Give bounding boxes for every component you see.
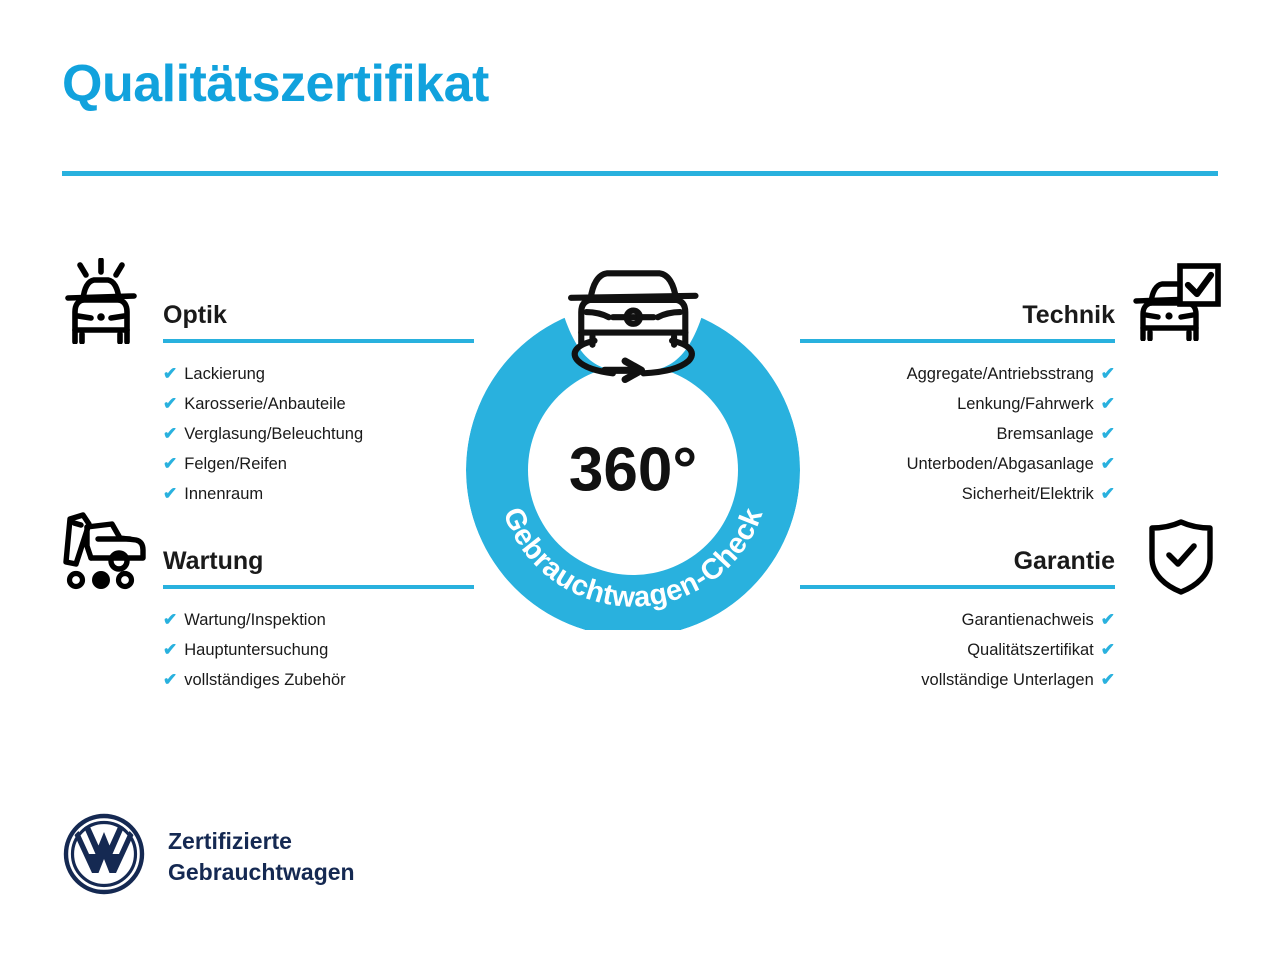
list-item-label: Karosserie/Anbauteile (184, 395, 345, 413)
list-item: ✔Lackierung (163, 359, 474, 389)
list-item: Bremsanlage✔ (800, 419, 1115, 449)
section-list-technik: Aggregate/Antriebsstrang✔ Lenkung/Fahrwe… (800, 359, 1115, 509)
car-lift-wrench-icon (58, 512, 148, 597)
check-icon: ✔ (1101, 635, 1115, 665)
check-icon: ✔ (1101, 449, 1115, 479)
check-icon: ✔ (163, 419, 177, 449)
section-divider-garantie (800, 585, 1115, 589)
car-shine-icon (58, 258, 144, 349)
list-item: Lenkung/Fahrwerk✔ (800, 389, 1115, 419)
list-item: ✔Wartung/Inspektion (163, 605, 474, 635)
footer-logo: Zertifizierte Gebrauchtwagen (62, 812, 355, 901)
list-item: ✔Felgen/Reifen (163, 449, 474, 479)
list-item-label: vollständige Unterlagen (921, 671, 1093, 689)
list-item-label: Unterboden/Abgasanlage (907, 455, 1094, 473)
list-item-label: Qualitätszertifikat (967, 641, 1094, 659)
section-garantie: Garantie Garantienachweis✔ Qualitätszert… (800, 549, 1115, 695)
section-wartung: Wartung ✔Wartung/Inspektion ✔Hauptunters… (163, 549, 474, 695)
shield-check-icon (1146, 518, 1216, 601)
section-optik: Optik ✔Lackierung ✔Karosserie/Anbauteile… (163, 303, 474, 509)
list-item-label: Wartung/Inspektion (184, 611, 326, 629)
footer-logo-text: Zertifizierte Gebrauchtwagen (168, 826, 355, 887)
title-divider (62, 171, 1218, 176)
volkswagen-logo (62, 812, 146, 901)
badge-center-text: 360° (569, 436, 697, 505)
check-icon: ✔ (1101, 419, 1115, 449)
check-icon: ✔ (163, 389, 177, 419)
certificate-page: Qualitätszertifikat (0, 0, 1280, 960)
list-item-label: Lackierung (184, 365, 265, 383)
section-list-wartung: ✔Wartung/Inspektion ✔Hauptuntersuchung ✔… (163, 605, 474, 695)
check-icon: ✔ (163, 605, 177, 635)
section-list-optik: ✔Lackierung ✔Karosserie/Anbauteile ✔Verg… (163, 359, 474, 509)
list-item-label: Felgen/Reifen (184, 455, 287, 473)
section-title-optik: Optik (163, 303, 474, 328)
check-icon: ✔ (1101, 479, 1115, 509)
list-item: Qualitätszertifikat✔ (800, 635, 1115, 665)
check-icon: ✔ (1101, 665, 1115, 695)
footer-line-1: Zertifizierte (168, 826, 355, 856)
section-title-garantie: Garantie (800, 549, 1115, 574)
list-item-label: vollständiges Zubehör (184, 671, 345, 689)
section-title-wartung: Wartung (163, 549, 474, 574)
footer-line-2: Gebrauchtwagen (168, 857, 355, 887)
list-item-label: Bremsanlage (997, 425, 1094, 443)
list-item-label: Innenraum (184, 485, 263, 503)
section-list-garantie: Garantienachweis✔ Qualitätszertifikat✔ v… (800, 605, 1115, 695)
list-item: ✔vollständiges Zubehör (163, 665, 474, 695)
check-icon: ✔ (163, 635, 177, 665)
list-item: Aggregate/Antriebsstrang✔ (800, 359, 1115, 389)
car-checkbox-icon (1133, 263, 1223, 346)
list-item: Unterboden/Abgasanlage✔ (800, 449, 1115, 479)
list-item: Sicherheit/Elektrik✔ (800, 479, 1115, 509)
check-icon: ✔ (1101, 359, 1115, 389)
section-divider-technik (800, 339, 1115, 343)
list-item-label: Verglasung/Beleuchtung (184, 425, 363, 443)
list-item: Garantienachweis✔ (800, 605, 1115, 635)
list-item-label: Sicherheit/Elektrik (962, 485, 1094, 503)
list-item-label: Lenkung/Fahrwerk (957, 395, 1094, 413)
check-icon: ✔ (163, 665, 177, 695)
check-icon: ✔ (163, 359, 177, 389)
section-title-technik: Technik (800, 303, 1115, 328)
check-icon: ✔ (163, 479, 177, 509)
list-item: ✔Karosserie/Anbauteile (163, 389, 474, 419)
list-item: ✔Verglasung/Beleuchtung (163, 419, 474, 449)
list-item-label: Garantienachweis (962, 611, 1094, 629)
list-item-label: Hauptuntersuchung (184, 641, 328, 659)
list-item-label: Aggregate/Antriebsstrang (907, 365, 1094, 383)
section-divider-optik (163, 339, 474, 343)
check-icon: ✔ (163, 449, 177, 479)
list-item: ✔Hauptuntersuchung (163, 635, 474, 665)
section-divider-wartung (163, 585, 474, 589)
list-item: ✔Innenraum (163, 479, 474, 509)
check-icon: ✔ (1101, 389, 1115, 419)
check-icon: ✔ (1101, 605, 1115, 635)
list-item: vollständige Unterlagen✔ (800, 665, 1115, 695)
page-title: Qualitätszertifikat (62, 56, 489, 113)
360-check-badge: Gebrauchtwagen-Check 360° (455, 250, 815, 630)
section-technik: Technik Aggregate/Antriebsstrang✔ Lenkun… (800, 303, 1115, 509)
